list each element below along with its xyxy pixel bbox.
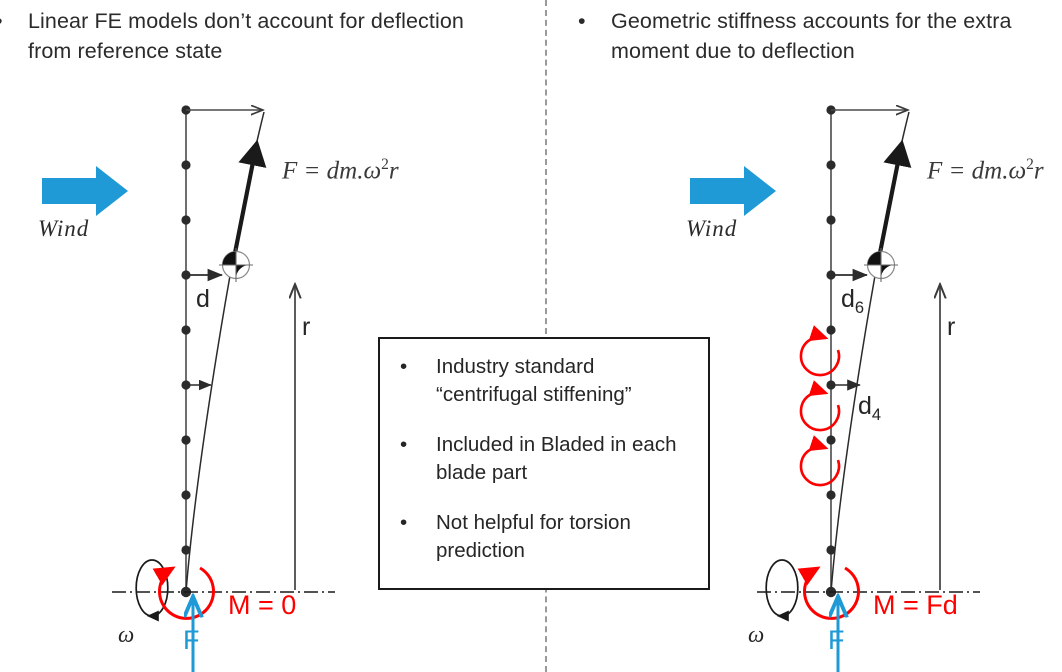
centrifugal-force-arrow-right (877, 152, 900, 268)
wind-arrow-right (690, 166, 776, 216)
omega-label-left: ω (118, 622, 134, 648)
deflection-label-subscript: 6 (855, 299, 864, 317)
internal-moment-arcs-right (801, 337, 839, 485)
wind-label-left: Wind (38, 216, 89, 242)
list-item: • Not helpful for torsion prediction (394, 509, 698, 565)
mass-element-marker-left (219, 248, 253, 282)
mass-element-marker-right (864, 248, 898, 282)
omega-label-right: ω (748, 622, 764, 648)
deflection-label-d4-right: d4 (858, 392, 881, 425)
deflection-label-d6-right: d6 (841, 285, 864, 318)
force-label-left: F (183, 625, 200, 656)
right-blade-group (690, 105, 980, 672)
header-left-text: Linear FE models don’t account for defle… (28, 6, 475, 66)
rotation-indicator-right (766, 560, 798, 616)
left-blade-group (42, 105, 335, 672)
list-item-text: Included in Bladed in each blade part (436, 433, 677, 484)
slide-canvas: • Linear FE models don’t account for def… (0, 0, 1062, 672)
internal-moment-arc (801, 337, 839, 375)
root-moment-arc-right (805, 568, 859, 618)
root-moment-arc-left (160, 568, 214, 618)
centrifugal-formula-right: F = dm.ω2r (927, 156, 1044, 185)
wind-label-right: Wind (686, 216, 737, 242)
header-bullet-left: • Linear FE models don’t account for def… (0, 6, 475, 66)
formula-body: F = dm.ω (282, 157, 381, 184)
force-label-right: F (828, 625, 845, 656)
formula-tail: r (389, 157, 399, 184)
formula-exponent: 2 (381, 156, 389, 173)
rotation-indicator-left (136, 560, 168, 616)
header-bullet-right: • Geometric stiffness accounts for the e… (578, 6, 1048, 66)
deflection-label-d-left: d (196, 285, 210, 314)
formula-body: F = dm.ω (927, 157, 1026, 184)
list-item-text: Industry standard “centrifugal stiffenin… (436, 355, 632, 406)
internal-moment-arc (801, 392, 839, 430)
deflection-label-base: d (841, 285, 855, 313)
moment-label-left: M = 0 (228, 590, 296, 621)
bullet-marker: • (400, 509, 407, 537)
list-item: • Industry standard “centrifugal stiffen… (394, 353, 698, 409)
list-item-text: Not helpful for torsion prediction (436, 511, 631, 562)
internal-moment-arc (801, 447, 839, 485)
deflection-label-subscript: 4 (872, 406, 881, 424)
centrifugal-formula-left: F = dm.ω2r (282, 156, 399, 185)
centrifugal-force-arrow-left (232, 152, 255, 268)
wind-arrow-left (42, 166, 128, 216)
centrifugal-stiffening-callout: • Industry standard “centrifugal stiffen… (378, 337, 710, 590)
formula-tail: r (1034, 157, 1044, 184)
deflection-label-base: d (858, 392, 872, 420)
moment-label-right: M = Fd (873, 590, 958, 621)
list-item: • Included in Bladed in each blade part (394, 431, 698, 487)
callout-list: • Industry standard “centrifugal stiffen… (394, 353, 698, 565)
bullet-marker: • (578, 6, 586, 36)
deflected-blade-curve-right (831, 112, 909, 592)
bullet-marker: • (0, 6, 3, 36)
blade-node-markers-right (826, 105, 836, 597)
formula-exponent: 2 (1026, 156, 1034, 173)
radius-label-left: r (302, 313, 310, 342)
radius-label-right: r (947, 313, 955, 342)
header-right-text: Geometric stiffness accounts for the ext… (611, 6, 1048, 66)
blade-node-markers-left (181, 105, 191, 597)
bullet-marker: • (400, 353, 407, 381)
bullet-marker: • (400, 431, 407, 459)
deflected-blade-curve-left (186, 112, 264, 592)
